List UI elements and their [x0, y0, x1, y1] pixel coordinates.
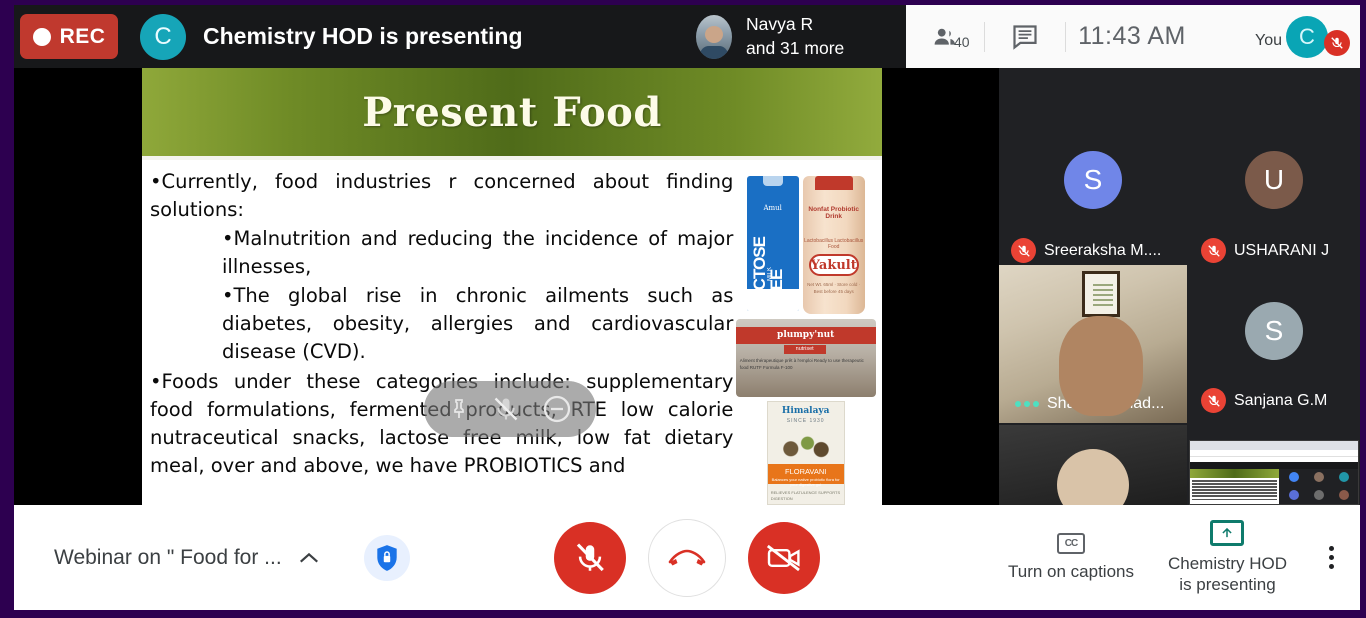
closed-caption-icon: CC	[1057, 533, 1085, 554]
preview-browser-tabs	[1190, 441, 1358, 450]
participant-tile[interactable]: S Sreeraksha M....	[999, 113, 1187, 273]
participant-tile[interactable]: S Sanjana G.M	[1189, 265, 1359, 423]
preview-slide-lines	[1190, 478, 1279, 504]
chevron-up-icon[interactable]	[298, 551, 320, 565]
himalaya-band: FLORAVANI Balances your native probiotic…	[768, 464, 844, 484]
tile-footer: Sanjana G.M	[1189, 388, 1359, 413]
himalaya-since: SINCE 1930	[768, 418, 844, 424]
slide-title: Present Food	[362, 89, 662, 136]
screen-share-preview[interactable]	[1189, 440, 1359, 505]
milk-sub-label: MILK	[767, 267, 773, 281]
product-row: Amul LACTOSE FREE MILK Nonfat Probiotic …	[747, 176, 865, 315]
participant-name: Sanjana G.M	[1234, 392, 1327, 410]
himalaya-brand: Himalaya	[768, 406, 844, 416]
slide-product-images: Amul LACTOSE FREE MILK Nonfat Probiotic …	[733, 168, 878, 505]
presenting-title: Chemistry HOD is presenting	[203, 23, 523, 50]
yakult-logo: Yakult	[809, 254, 859, 276]
plumpy-desc: Aliment thérapeutique prêt à l'emploi Re…	[740, 357, 872, 371]
more-vertical-icon	[1329, 546, 1334, 551]
milk-brand: Amul	[747, 204, 799, 212]
preview-slide-header	[1190, 469, 1279, 478]
plumpy-band: plumpy'nut	[736, 327, 876, 344]
mic-off-icon[interactable]	[492, 395, 520, 423]
participant-name: Sreeraksha M....	[1044, 242, 1161, 260]
record-dot-icon	[33, 28, 51, 46]
avatar: S	[1245, 302, 1303, 360]
participant-name: USHARANI J	[1234, 242, 1329, 260]
present-line-1: Chemistry HOD	[1168, 554, 1287, 573]
camera-toggle-button[interactable]	[748, 522, 820, 594]
plumpy-left-text: Aliment thérapeutique prêt à l'emploi Re…	[740, 357, 872, 371]
meeting-name-label: Webinar on " Food for ...	[54, 546, 282, 570]
chat-button[interactable]	[985, 23, 1065, 51]
bottle-cap	[815, 176, 853, 190]
presenter-avatar: C	[140, 14, 186, 60]
lactose-free-milk-image: Amul LACTOSE FREE MILK	[747, 176, 799, 311]
rec-label: REC	[60, 25, 106, 49]
more-options-button[interactable]	[1321, 538, 1342, 577]
presentation-stage[interactable]: Present Food •Currently, food industries…	[14, 68, 999, 505]
avatar: S	[1064, 151, 1122, 209]
participants-sidebar[interactable]: S Sreeraksha M.... U	[999, 68, 1360, 505]
preview-url-bar	[1190, 450, 1358, 457]
bottom-toolbar: Webinar on " Food for ...	[14, 505, 1360, 610]
camera-off-icon	[766, 542, 802, 574]
preview-meet-topbar	[1190, 462, 1358, 469]
mic-off-icon	[1201, 388, 1226, 413]
present-line-2: is presenting	[1179, 575, 1275, 594]
mic-toggle-button[interactable]	[554, 522, 626, 594]
plumpy-name: plumpy'nut	[736, 327, 876, 344]
call-controls	[554, 519, 820, 597]
yakult-mid-text: Lactobacillus Lactobacillus Food	[803, 238, 865, 250]
meeting-app: REC C Chemistry HOD is presenting Navya …	[14, 5, 1360, 610]
present-status-label: Chemistry HOD is presenting	[1168, 553, 1287, 596]
top-bar-right: 40 11:43 AM You C	[906, 5, 1360, 68]
slide-body: •Currently, food industries r concerned …	[142, 160, 882, 505]
participant-name: Shankara mad...	[1047, 395, 1164, 413]
active-speaker-chip[interactable]: Navya R and 31 more	[678, 5, 906, 68]
clock: 11:43 AM	[1066, 22, 1198, 51]
mic-off-icon	[573, 541, 607, 575]
slide-paragraph: •The global rise in chronic ailments suc…	[222, 282, 733, 366]
participants-count: 40	[954, 34, 970, 50]
slide-text: •Currently, food industries r concerned …	[150, 168, 733, 505]
self-indicator: You C	[1198, 16, 1360, 58]
right-controls: CC Turn on captions Chemistry HOD is pre…	[1008, 520, 1342, 596]
remove-circle-icon[interactable]	[541, 393, 573, 425]
shared-slide: Present Food •Currently, food industries…	[142, 68, 882, 505]
wall-certificate	[1082, 271, 1120, 317]
shield-lock-icon	[374, 544, 400, 572]
preview-slide	[1190, 469, 1279, 505]
mic-off-icon	[1201, 238, 1226, 263]
present-status-button[interactable]: Chemistry HOD is presenting	[1168, 520, 1287, 596]
speaker-name: Navya R	[746, 13, 844, 37]
chat-bubble-icon	[1011, 23, 1039, 51]
himalaya-product: FLORAVANI	[785, 467, 826, 476]
slide-paragraph: •Currently, food industries r concerned …	[150, 168, 733, 224]
captions-button[interactable]: CC Turn on captions	[1008, 533, 1134, 582]
end-call-button[interactable]	[648, 519, 726, 597]
milk-bottom-strip	[747, 289, 799, 311]
slide-paragraph: •Malnutrition and reducing the incidence…	[222, 225, 733, 281]
slide-header: Present Food	[142, 68, 882, 156]
yakult-image: Nonfat Probiotic Drink Lactobacillus Lac…	[803, 176, 865, 314]
recording-indicator: REC	[20, 14, 118, 59]
participant-tile[interactable]: U USHARANI J	[1189, 113, 1359, 273]
mic-off-icon	[1324, 30, 1350, 56]
plumpy-tag: nutriset	[784, 345, 826, 354]
avatar	[696, 15, 732, 59]
preview-body	[1190, 469, 1358, 505]
tile-footer: Shankara mad...	[999, 395, 1187, 413]
captions-label: Turn on captions	[1008, 561, 1134, 582]
participant-tile[interactable]	[999, 425, 1187, 505]
himalaya-tagline: Balances your native probiotic flora for…	[768, 477, 844, 487]
plumpynut-image: plumpy'nut nutriset Aliment thérapeutiqu…	[736, 319, 876, 397]
pin-icon[interactable]	[447, 395, 471, 423]
tile-footer: USHARANI J	[1189, 238, 1359, 263]
present-screen-icon	[1210, 520, 1244, 546]
herb-illustration	[768, 426, 844, 464]
tile-footer: Sreeraksha M....	[999, 238, 1187, 263]
end-call-icon	[667, 545, 707, 571]
mic-off-icon	[1011, 238, 1036, 263]
browser-frame: REC C Chemistry HOD is presenting Navya …	[0, 0, 1366, 618]
himalaya-foot: RELIEVES FLATULENCE SUPPORTS DIGESTION	[771, 490, 844, 502]
himalaya-floravani-image: Himalaya SINCE 1930 FLORAVANI Balances y…	[767, 401, 845, 505]
yakult-top-text: Nonfat Probiotic Drink	[803, 206, 865, 220]
you-label: You	[1255, 32, 1282, 50]
speaker-more: and 31 more	[746, 37, 844, 61]
speaking-indicator-icon	[1015, 401, 1039, 407]
top-bar: REC C Chemistry HOD is presenting Navya …	[14, 5, 1360, 68]
yakult-foot-text: Net Wt. 65ml · Store cold · Best before …	[803, 282, 865, 296]
meeting-safety-button[interactable]	[364, 535, 410, 581]
active-speaker-names: Navya R and 31 more	[746, 13, 844, 60]
preview-participant-grid	[1279, 469, 1358, 505]
tile-hover-controls[interactable]	[424, 381, 596, 437]
avatar: C	[1286, 16, 1328, 58]
participant-tile[interactable]: Shankara mad...	[999, 265, 1187, 423]
participants-button[interactable]: 40	[906, 24, 984, 50]
meeting-name-button[interactable]: Webinar on " Food for ...	[54, 546, 320, 570]
avatar: U	[1245, 151, 1303, 209]
